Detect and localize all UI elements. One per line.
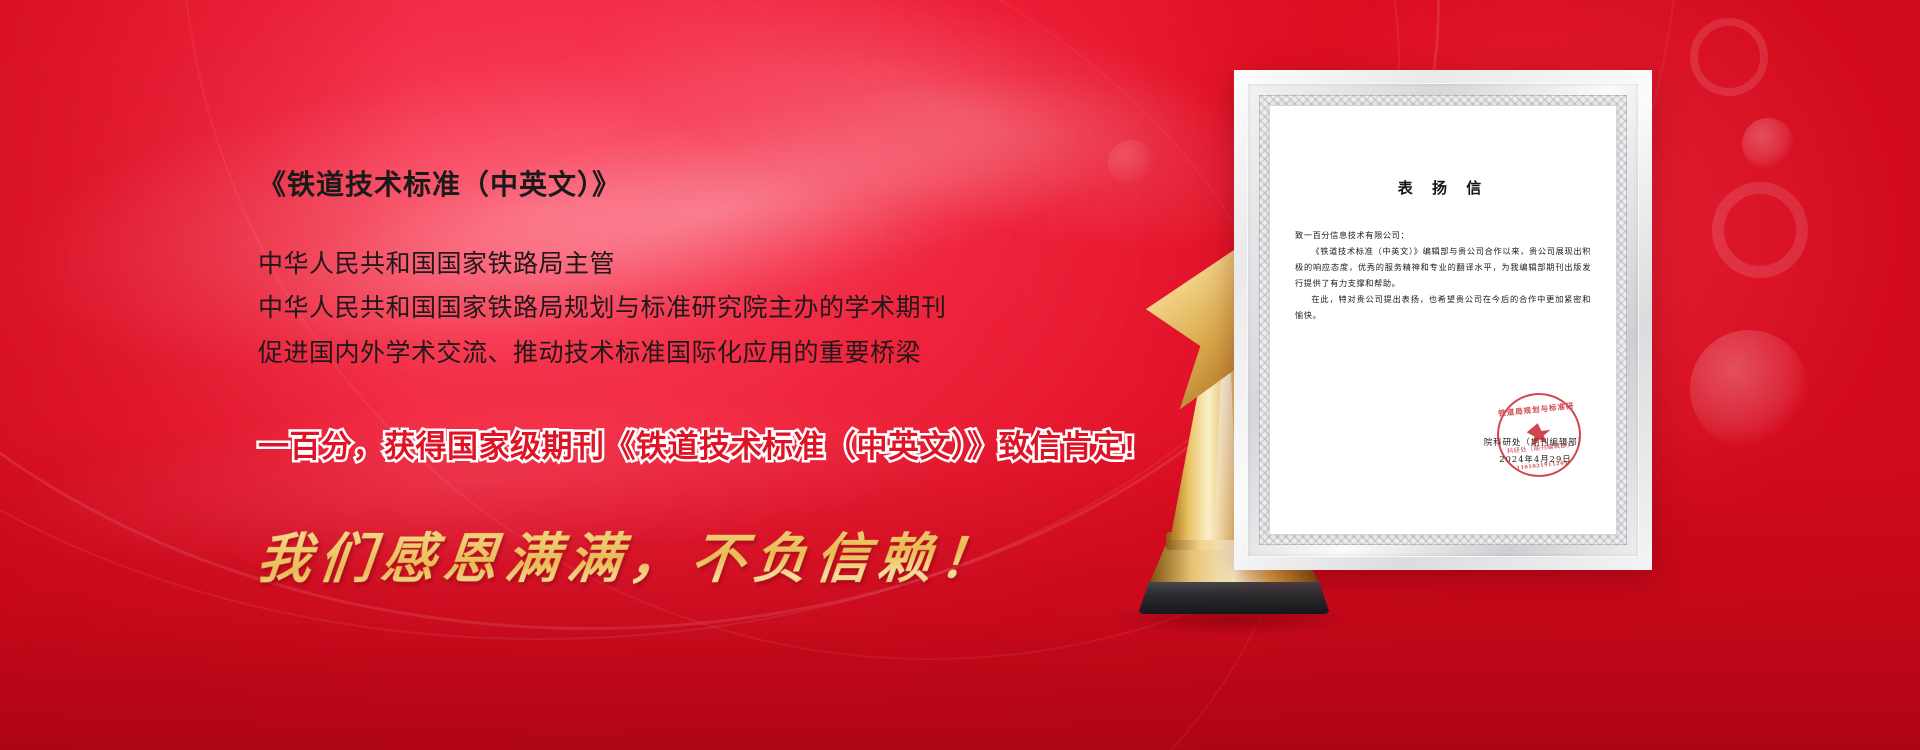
seal-mid-text: 科研处（期刊编辑部） [1500, 439, 1581, 456]
certificate-paragraph-1: 致一百分信息技术有限公司： [1295, 228, 1591, 244]
description-block: 中华人民共和国国家铁路局主管 中华人民共和国国家铁路局规划与标准研究院主办的学术… [258, 242, 1238, 376]
journal-title: 《铁道技术标准（中英文）》 [258, 168, 1238, 202]
seal-arc-text: 铁道局规划与标准研 [1496, 400, 1577, 419]
copy-block: 《铁道技术标准（中英文）》 中华人民共和国国家铁路局主管 中华人民共和国国家铁路… [258, 168, 1238, 593]
certificate-paper: 表 扬 信 致一百分信息技术有限公司： 《铁道技术标准（中英文）》编辑部与贵公司… [1269, 105, 1617, 535]
certificate-frame-pattern: 表 扬 信 致一百分信息技术有限公司： 《铁道技术标准（中英文）》编辑部与贵公司… [1259, 95, 1627, 545]
description-line-1: 中华人民共和国国家铁路局主管 [258, 242, 1238, 287]
certificate-paragraph-2: 《铁道技术标准（中英文）》编辑部与贵公司合作以来，贵公司展现出积极的响应态度，优… [1295, 244, 1591, 292]
calligraphy-slogan: 我们感恩满满，不负信赖！ [254, 514, 1242, 593]
headline-text: 一百分，获得国家级期刊《铁道技术标准（中英文）》致信肯定! [258, 421, 1238, 466]
description-line-3: 促进国内外学术交流、推动技术标准国际化应用的重要桥梁 [258, 331, 1238, 376]
trophy-base-dark [1138, 580, 1330, 614]
certificate-body: 致一百分信息技术有限公司： 《铁道技术标准（中英文）》编辑部与贵公司合作以来，贵… [1295, 228, 1591, 324]
bokeh-circle-2 [1742, 118, 1794, 170]
promo-banner: 《铁道技术标准（中英文）》 中华人民共和国国家铁路局主管 中华人民共和国国家铁路… [0, 0, 1920, 750]
certificate-paragraph-3: 在此，特对贵公司提出表扬，也希望贵公司在今后的合作中更加紧密和愉快。 [1295, 292, 1591, 324]
certificate-frame-bevel: 表 扬 信 致一百分信息技术有限公司： 《铁道技术标准（中英文）》编辑部与贵公司… [1247, 83, 1639, 557]
certificate-frame: 表 扬 信 致一百分信息技术有限公司： 《铁道技术标准（中英文）》编辑部与贵公司… [1234, 70, 1652, 570]
certificate-title: 表 扬 信 [1295, 177, 1591, 198]
description-line-2: 中华人民共和国国家铁路局规划与标准研究院主办的学术期刊 [258, 286, 1238, 331]
bokeh-circle-1 [1690, 18, 1768, 96]
bokeh-circle-3 [1712, 182, 1808, 278]
bokeh-circle-4 [1690, 330, 1808, 448]
seal-bottom-text: 1101021911245 [1502, 459, 1582, 473]
